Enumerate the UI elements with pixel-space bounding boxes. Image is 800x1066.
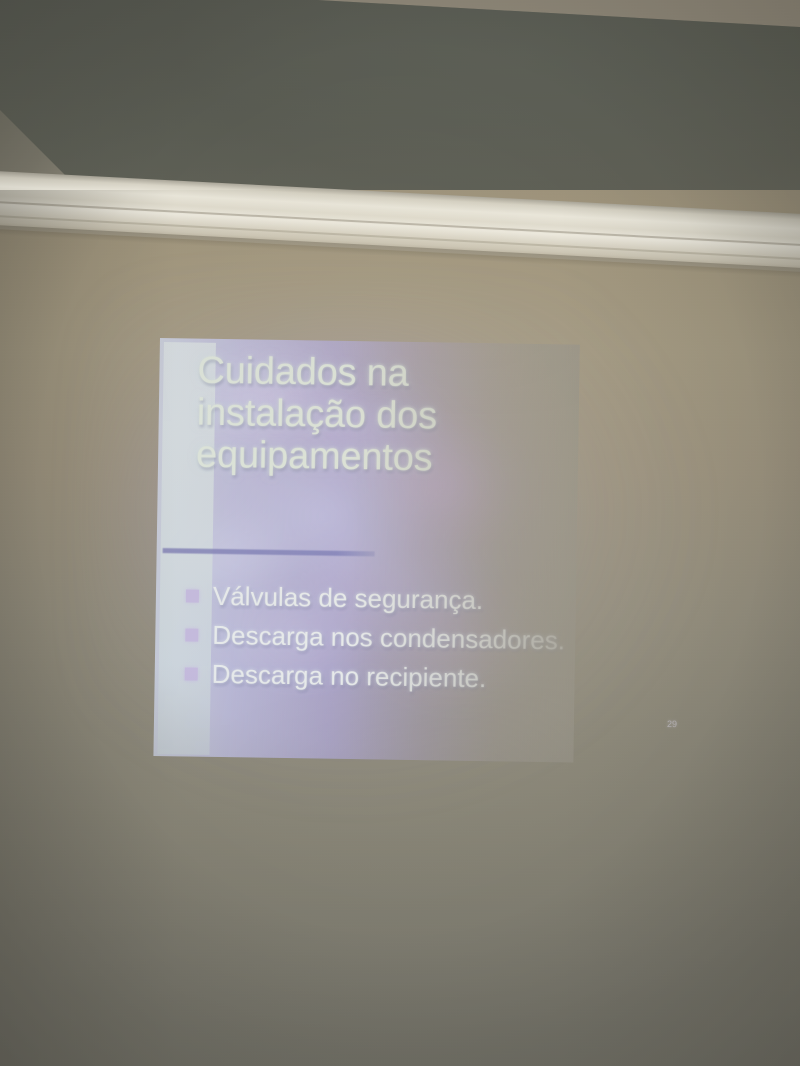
list-item: Descarga nos condensadores. [185, 617, 580, 659]
slide-title-divider [163, 548, 375, 556]
list-item: Válvulas de segurança. [186, 578, 580, 620]
list-item-label: Válvulas de segurança. [213, 581, 484, 615]
square-bullet-icon [185, 628, 198, 641]
slide-bullet-list: Válvulas de segurança. Descarga nos cond… [184, 578, 580, 701]
slide-number: 29 [667, 719, 677, 729]
list-item-label: Descarga nos condensadores. [212, 620, 565, 656]
square-bullet-icon [186, 589, 199, 602]
square-bullet-icon [185, 667, 198, 680]
projected-slide-photo: Cuidados na instalação dos equipamentos … [0, 0, 800, 1066]
slide-surface: Cuidados na instalação dos equipamentos … [153, 338, 580, 763]
list-item: Descarga no recipiente. [184, 656, 580, 698]
slide-title: Cuidados na instalação dos equipamentos [196, 351, 558, 482]
list-item-label: Descarga no recipiente. [211, 659, 486, 693]
projected-slide: Cuidados na instalação dos equipamentos … [153, 338, 580, 775]
